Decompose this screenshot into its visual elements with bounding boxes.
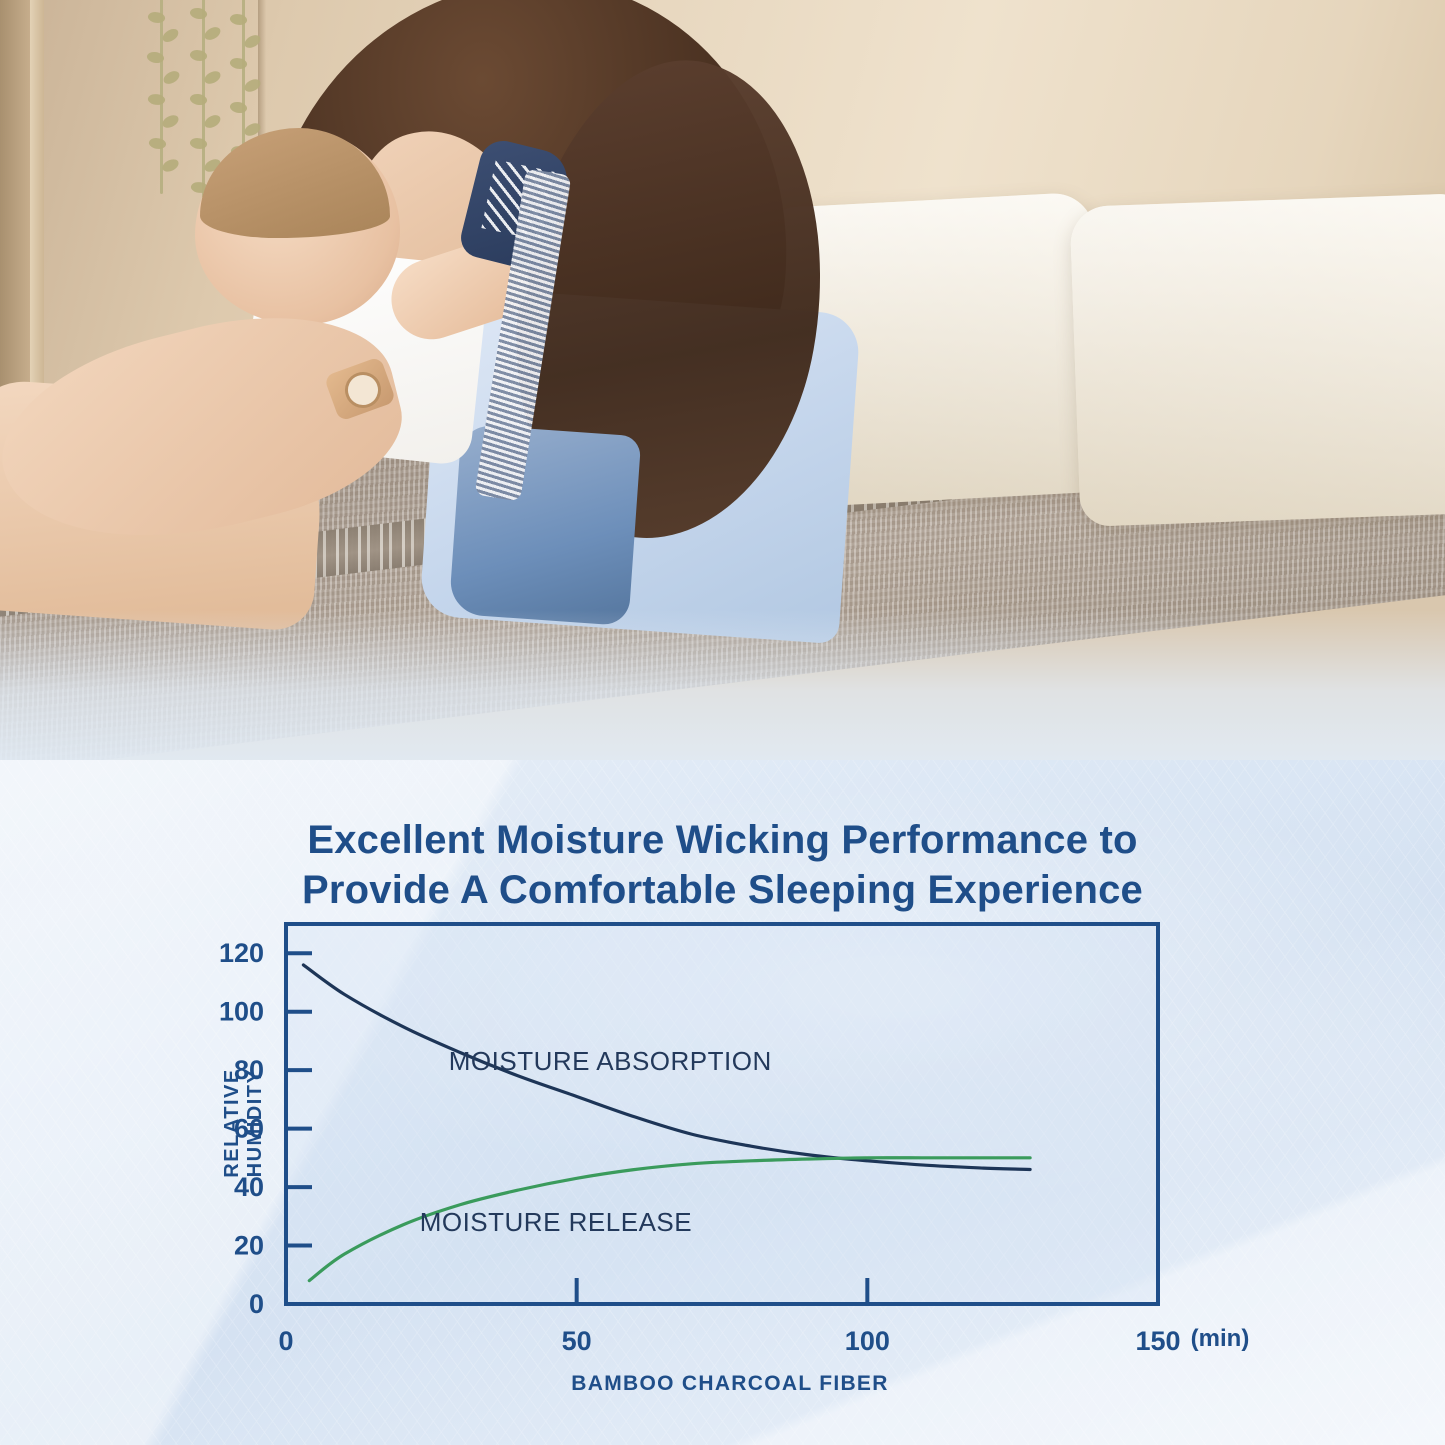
x-axis-unit: (min) bbox=[1191, 1325, 1250, 1352]
x-tick-label: 150 bbox=[1135, 1326, 1180, 1356]
y-tick-label: 20 bbox=[234, 1231, 264, 1261]
series-label: MOISTURE ABSORPTION bbox=[449, 1046, 772, 1076]
x-tick-label: 50 bbox=[562, 1326, 592, 1356]
chart-panel: Excellent Moisture Wicking Performance t… bbox=[0, 760, 1445, 1445]
x-tick-label: 0 bbox=[278, 1326, 293, 1356]
page-title: Excellent Moisture Wicking Performance t… bbox=[0, 815, 1445, 915]
y-axis-label: RELATIVE HUMIDITY bbox=[221, 1013, 267, 1233]
x-axis-caption: BAMBOO CHARCOAL FIBER bbox=[140, 1372, 1320, 1396]
mother-denim-shorts bbox=[449, 424, 642, 626]
humidity-chart: RELATIVE HUMIDITY BAMBOO CHARCOAL FIBER … bbox=[140, 920, 1320, 1400]
lifestyle-photo bbox=[0, 0, 1445, 790]
plot-background bbox=[286, 924, 1158, 1304]
title-line-1: Excellent Moisture Wicking Performance t… bbox=[0, 815, 1445, 865]
pillow-right bbox=[1070, 193, 1445, 527]
title-line-2: Provide A Comfortable Sleeping Experienc… bbox=[0, 865, 1445, 915]
chart-svg: 020406080100120050100150(min)MOISTURE AB… bbox=[140, 920, 1320, 1360]
x-tick-label: 100 bbox=[845, 1326, 890, 1356]
y-tick-label: 0 bbox=[249, 1289, 264, 1319]
product-infographic: Excellent Moisture Wicking Performance t… bbox=[0, 0, 1445, 1445]
y-tick-label: 120 bbox=[219, 938, 264, 968]
series-label: MOISTURE RELEASE bbox=[420, 1207, 692, 1237]
